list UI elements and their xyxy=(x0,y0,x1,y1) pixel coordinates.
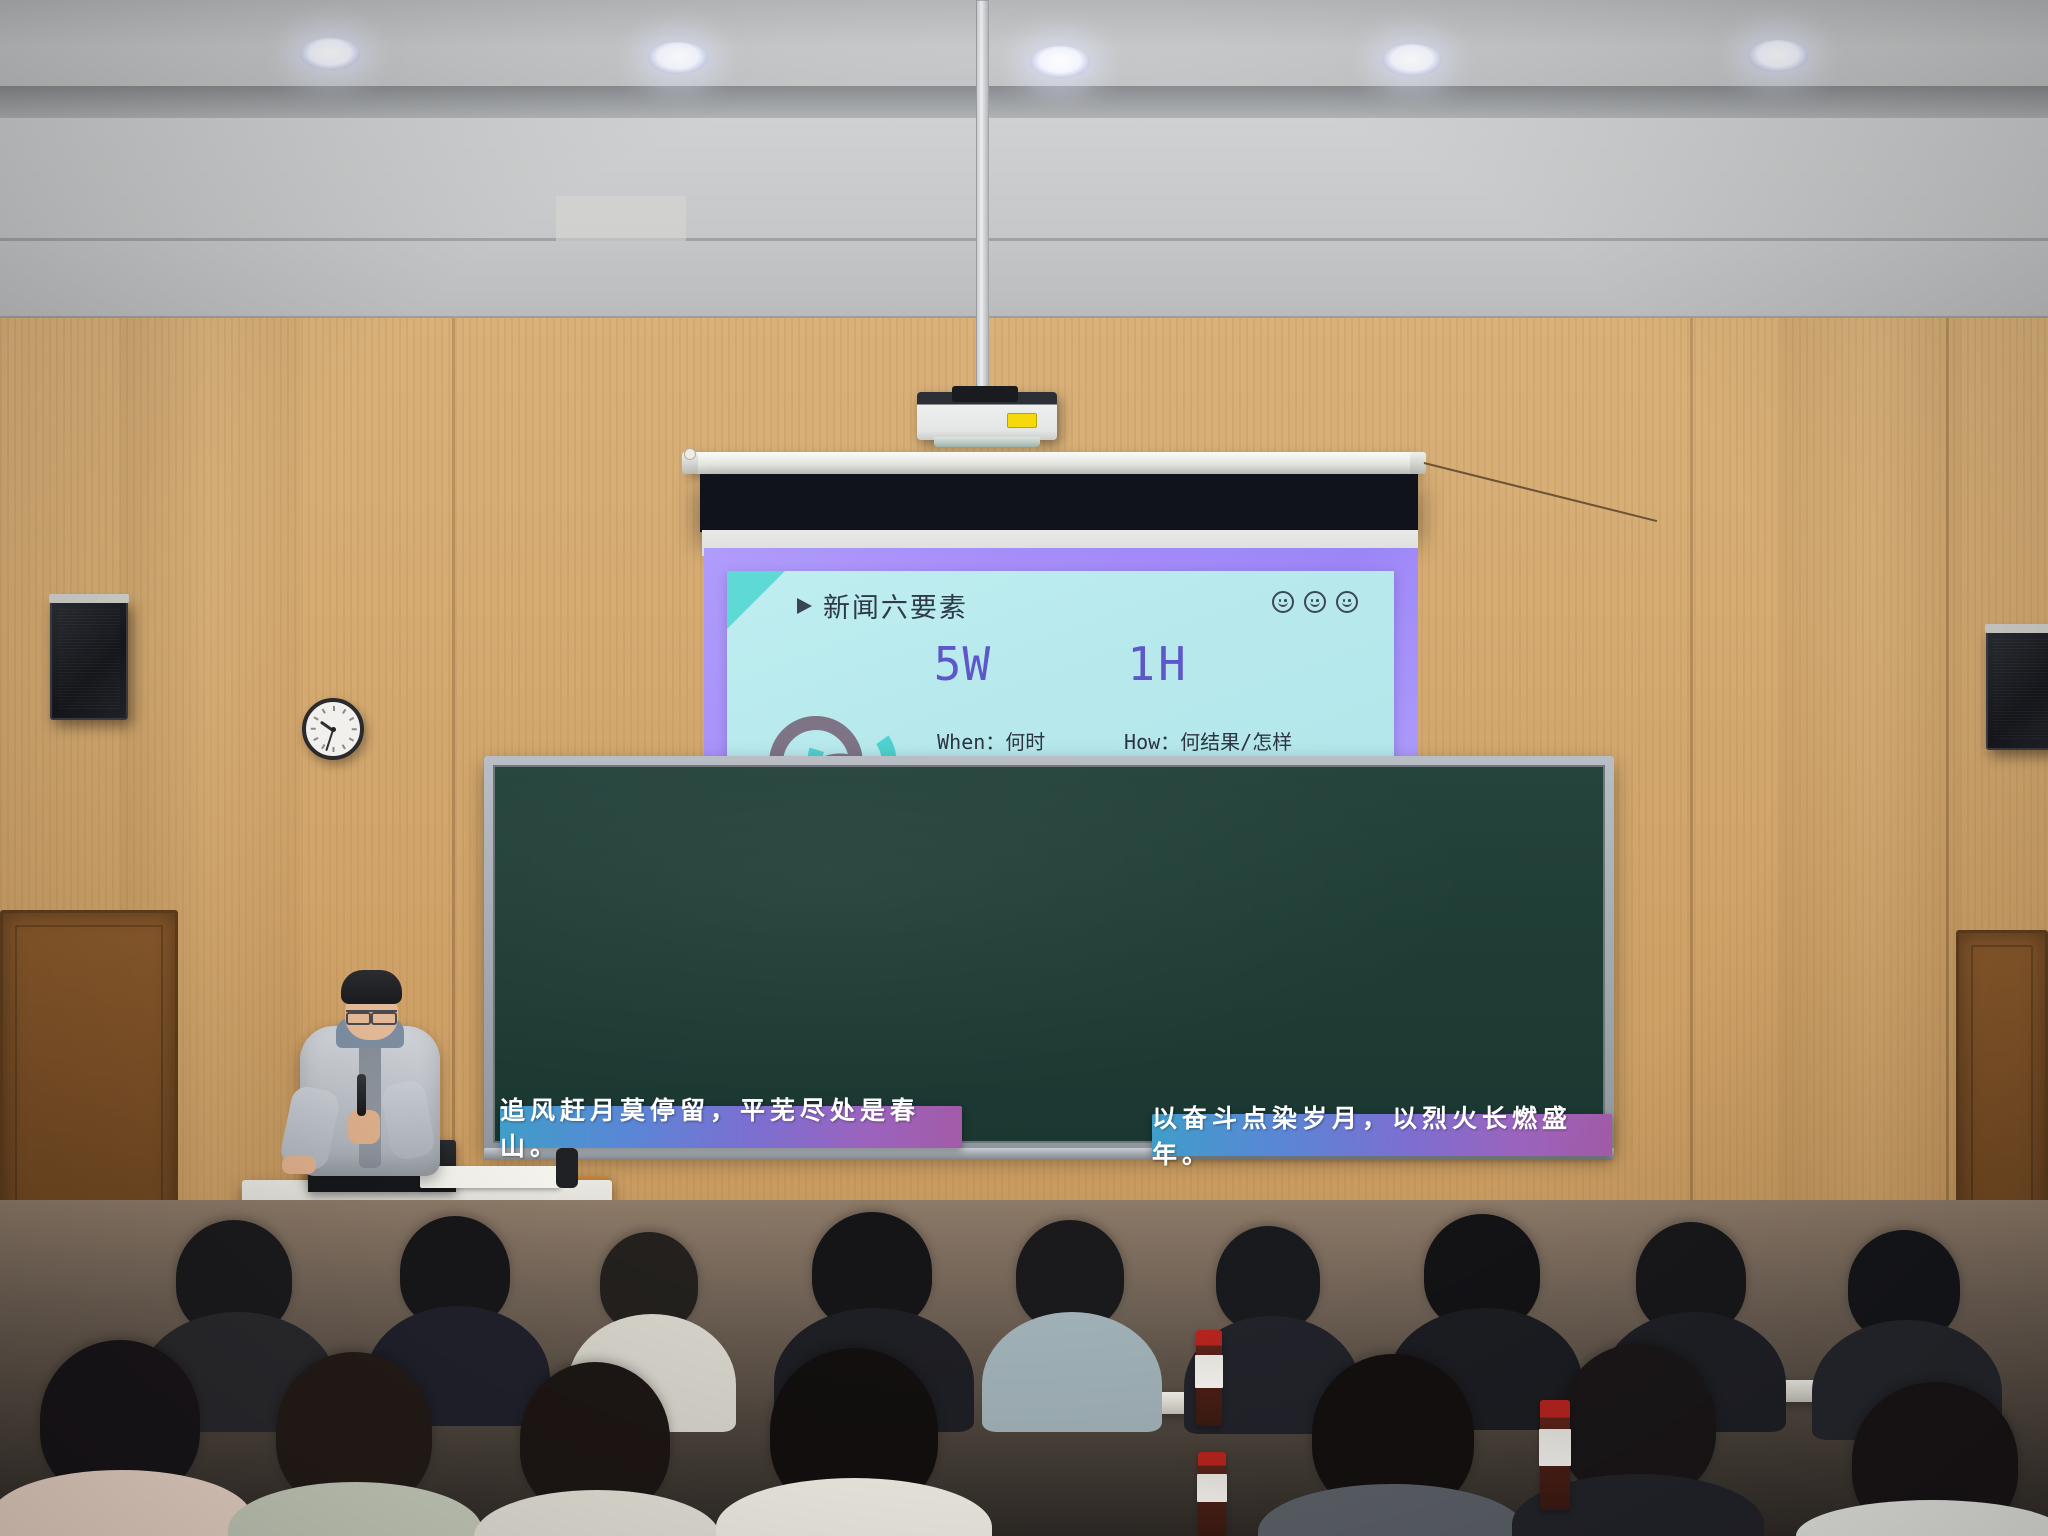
clock-tick xyxy=(352,728,357,730)
wall-seam xyxy=(0,238,2048,241)
papers xyxy=(420,1166,560,1188)
ceiling-downlight xyxy=(1030,46,1090,78)
clock-tick xyxy=(342,744,346,749)
motivational-banner-left: 追风赶月莫停留，平芜尽处是春山。 xyxy=(500,1106,962,1148)
blackboard-surface xyxy=(493,765,1605,1143)
projector-mount-pole xyxy=(976,0,989,398)
clock-tick xyxy=(313,737,318,741)
cola-bottle[interactable] xyxy=(1198,1452,1226,1536)
wood-grain xyxy=(1780,318,1960,1218)
projector-warning-label xyxy=(1007,413,1038,427)
cola-bottle[interactable] xyxy=(1196,1330,1222,1426)
corner-triangle-top-left-icon xyxy=(727,571,785,629)
ceiling-downlight xyxy=(648,42,708,74)
cola-bottle[interactable] xyxy=(1540,1400,1570,1510)
cola-label xyxy=(1540,1433,1570,1462)
lecture-hall-scene: 新闻六要素 5W 1H When：何时 Where：何地 Who(m)：何人 W… xyxy=(0,0,2048,1536)
wall-speaker-right xyxy=(1986,630,2048,750)
glasses-icon xyxy=(346,1010,396,1019)
smiley-icon xyxy=(1336,591,1358,613)
slide-title-row: 新闻六要素 xyxy=(797,586,968,625)
wood-panel-seam xyxy=(1690,318,1693,1218)
ceiling-shadow xyxy=(0,86,2048,120)
ceiling-downlight xyxy=(1382,44,1442,76)
motivational-banner-right: 以奋斗点染岁月，以烈火长燃盛年。 xyxy=(1152,1114,1612,1156)
ceiling-downlight xyxy=(1748,40,1808,72)
clock-tick xyxy=(311,728,316,730)
clock-tick xyxy=(342,709,346,714)
wall-patch xyxy=(556,196,686,241)
projector-cable-bundle xyxy=(952,386,1018,402)
clock-tick xyxy=(313,717,318,721)
smiley-icon-group xyxy=(1272,591,1358,613)
slide-title: 新闻六要素 xyxy=(823,586,968,625)
screen-dark-header xyxy=(700,474,1418,532)
slide-heading-5w: 5W xyxy=(934,637,991,691)
clock-tick xyxy=(349,737,354,741)
cola-label xyxy=(1198,1477,1226,1499)
upper-wall xyxy=(0,118,2048,318)
arrow-bullet-icon xyxy=(797,598,812,614)
clock-tick xyxy=(349,717,354,721)
wall-clock xyxy=(302,698,364,760)
screen-roller-bar xyxy=(688,452,1420,474)
speaker-bracket xyxy=(49,594,129,603)
microphone[interactable] xyxy=(357,1074,366,1116)
smiley-icon xyxy=(1272,591,1294,613)
screen-pull-knob[interactable] xyxy=(684,448,696,460)
cola-label xyxy=(1196,1359,1222,1384)
projector-lens xyxy=(934,437,1040,447)
slide-heading-1h: 1H xyxy=(1127,637,1188,691)
banner-text: 以奋斗点染岁月，以烈火长燃盛年。 xyxy=(1152,1099,1612,1171)
ceiling-downlight xyxy=(300,38,360,70)
beanie-hat xyxy=(341,970,403,1004)
wood-panel-seam xyxy=(452,318,455,1218)
speaker-bracket xyxy=(1985,624,2048,633)
presenter-left-hand xyxy=(282,1156,316,1174)
presenter xyxy=(300,970,440,1186)
microphone-holder[interactable] xyxy=(556,1148,578,1188)
clock-tick xyxy=(333,706,335,711)
smiley-icon xyxy=(1304,591,1326,613)
clock-tick xyxy=(322,709,326,714)
wall-speaker-left xyxy=(50,600,128,720)
clock-tick xyxy=(333,747,335,752)
clock-center-pin xyxy=(331,727,336,732)
